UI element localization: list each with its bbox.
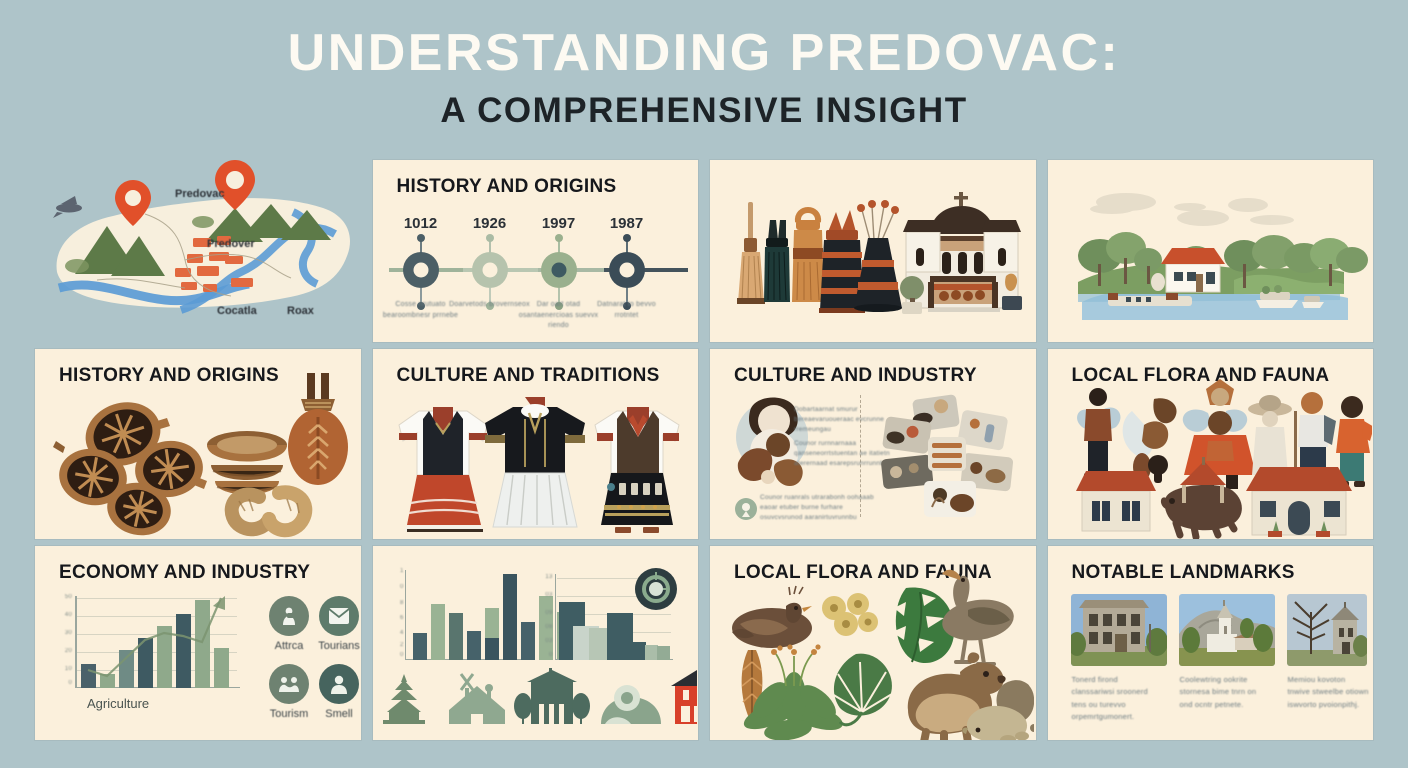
y-axis-tick: 4 bbox=[390, 630, 404, 636]
broom-tan-icon bbox=[737, 202, 765, 304]
page-title: UNDERSTANDING PREDOVAC: bbox=[0, 26, 1408, 81]
y-axis-tick: 0 bbox=[58, 680, 72, 686]
tower-with-tree-photo[interactable] bbox=[1287, 594, 1367, 666]
pagoda-icon bbox=[383, 674, 425, 724]
economy-bar-chart: 50 40 30 20 10 0 bbox=[75, 596, 240, 688]
chart-bar bbox=[449, 613, 463, 660]
y-axis-tick: 30 bbox=[58, 630, 72, 636]
panel-culture-traditions: CULTURE AND TRADITIONS bbox=[373, 349, 699, 539]
chart-x-label: Agriculture bbox=[87, 696, 149, 711]
landmark-icons-row bbox=[373, 664, 697, 734]
y-axis-tick: 03 bbox=[539, 638, 553, 644]
clouds bbox=[1090, 193, 1294, 226]
folk-costume-black-skirt bbox=[595, 407, 679, 533]
y-axis-tick: 0 bbox=[390, 652, 404, 658]
infographic-root: UNDERSTANDING PREDOVAC: A COMPREHENSIVE … bbox=[0, 0, 1408, 768]
stone-manor-photo[interactable] bbox=[1071, 594, 1167, 666]
panel-location-map: Predovac Predover Cocatla Roax bbox=[35, 160, 361, 342]
y-axis-tick: 2 bbox=[390, 642, 404, 648]
y-axis-tick: 50 bbox=[58, 594, 72, 600]
page-header: UNDERSTANDING PREDOVAC: A COMPREHENSIVE … bbox=[0, 26, 1408, 131]
panel-history-crafts: HISTORY AND ORIGINS bbox=[35, 349, 361, 539]
timeline-caption: Datnarat to bevvo rrotntet bbox=[585, 300, 669, 321]
red-roof-villa bbox=[1246, 467, 1352, 537]
badge-label: Smell bbox=[304, 708, 361, 720]
panel-notable-landmarks: NOTABLE LANDMARKS bbox=[1048, 546, 1374, 740]
figures-illustration bbox=[1048, 349, 1372, 539]
folk-costumes-illustration bbox=[373, 349, 697, 539]
chart-bar bbox=[467, 631, 481, 660]
photo-caption: Memiou kovoton tnwive stweelbe otiown is… bbox=[1288, 674, 1370, 711]
y-axis-tick: 03 bbox=[539, 592, 553, 598]
map-label: Cocatla bbox=[217, 305, 257, 317]
y-axis-tick: 10 bbox=[58, 666, 72, 672]
basket-illustration bbox=[35, 349, 359, 539]
photo-caption: Tonerd firond clanssariwsi sroonerd tens… bbox=[1072, 674, 1154, 724]
chart-trend-line bbox=[75, 596, 240, 688]
timeline-node[interactable] bbox=[403, 252, 439, 288]
y-axis-tick: 13 bbox=[539, 574, 553, 580]
page-subtitle: A COMPREHENSIVE INSIGHT bbox=[0, 91, 1408, 131]
body-paragraph: Counor rurnnarnaaa qanseneorrtstuentan a… bbox=[794, 439, 890, 469]
panel-flora-fauna-figures: LOCAL FLORA AND FAUNA bbox=[1048, 349, 1374, 539]
badge-handshake-icon[interactable] bbox=[269, 664, 309, 704]
chart-bar bbox=[607, 613, 633, 660]
y-axis-tick: 1 bbox=[390, 568, 404, 574]
timeline-year: 1926 bbox=[455, 215, 525, 232]
body-paragraph: Dobartaarnat smurur bereaevaruoueraac ev… bbox=[794, 405, 890, 435]
stacked-bowls-icon bbox=[207, 431, 287, 495]
y-axis-tick: 6 bbox=[390, 615, 404, 621]
civic-building-icon bbox=[514, 668, 590, 724]
timeline-year: 1987 bbox=[592, 215, 662, 232]
chart-bar bbox=[657, 646, 670, 660]
panel-traditional-crafts bbox=[710, 160, 1036, 342]
red-roof-house bbox=[1076, 471, 1156, 531]
broom-dark-teal-icon bbox=[764, 220, 790, 302]
chart-bar bbox=[503, 574, 517, 660]
timeline-node[interactable] bbox=[609, 252, 645, 288]
braided-bread-icon bbox=[232, 492, 306, 530]
photo-caption: Coolewtring ookrite stornesa bime tnrn o… bbox=[1180, 674, 1262, 711]
y-axis-tick: 40 bbox=[58, 612, 72, 618]
brown-duck bbox=[732, 586, 812, 648]
folk-costume-white-skirt bbox=[485, 397, 585, 527]
monument-arch-icon bbox=[601, 685, 661, 724]
body-paragraph: Counor ruanrals utrarabonh oohaaab eaoar… bbox=[760, 493, 878, 523]
y-axis-tick: 0 bbox=[539, 652, 553, 658]
folk-costume-red-skirt bbox=[399, 407, 487, 532]
map-label: Roax bbox=[287, 305, 314, 317]
location-pin-icon bbox=[742, 503, 750, 511]
y-axis-tick: 08 bbox=[539, 624, 553, 630]
broom-orange-icon bbox=[792, 210, 824, 302]
church-with-mountain-photo[interactable] bbox=[1179, 594, 1275, 666]
landscape-illustration bbox=[1048, 160, 1372, 342]
hanging-ornament-icon bbox=[288, 373, 348, 485]
panel-title: HISTORY AND ORIGINS bbox=[397, 176, 617, 198]
panel-title: NOTABLE LANDMARKS bbox=[1072, 562, 1295, 584]
badge-envelope-icon[interactable] bbox=[319, 596, 359, 636]
secondary-bar-chart-right: 13 03 09 08 03 0 bbox=[555, 574, 673, 660]
flora-fauna-illustration bbox=[710, 546, 1034, 740]
panel-economy-industry: ECONOMY AND INDUSTRY 50 40 30 20 10 0 bbox=[35, 546, 361, 740]
panel-culture-industry: CULTURE AND INDUSTRY Dobartaarnat smurur… bbox=[710, 349, 1036, 539]
timeline-year: 1012 bbox=[386, 215, 456, 232]
crafts-illustration bbox=[710, 160, 1034, 342]
fan-palm-leaf bbox=[832, 654, 892, 725]
badge-label: Tourians bbox=[304, 640, 361, 652]
map-illustration: Predovac Predover Cocatla Roax bbox=[35, 160, 361, 342]
panel-title: ECONOMY AND INDUSTRY bbox=[59, 562, 310, 584]
yellow-flower-cluster bbox=[822, 593, 878, 636]
timeline-year: 1997 bbox=[524, 215, 594, 232]
orthodox-church-icon bbox=[900, 192, 1022, 314]
panel-history-timeline: HISTORY AND ORIGINS 1012 Cosse nrutuato … bbox=[373, 160, 699, 342]
chart-bar bbox=[521, 622, 535, 660]
winged-figure-1 bbox=[1077, 388, 1120, 479]
map-label: Predovac bbox=[175, 188, 225, 200]
chart-bar bbox=[431, 604, 445, 660]
badge-person-carrying-icon[interactable] bbox=[269, 596, 309, 636]
donut-gauge-icon bbox=[633, 566, 679, 612]
chart-bar bbox=[485, 638, 499, 660]
winged-figure-2 bbox=[1122, 398, 1176, 483]
badge-person-silhouette-icon[interactable] bbox=[319, 664, 359, 704]
secondary-bar-chart-left: 1 0 8 6 4 2 0 bbox=[405, 570, 531, 660]
timeline-node[interactable] bbox=[541, 252, 577, 288]
map-label: Predover bbox=[207, 238, 255, 250]
panel-riverside-landscape bbox=[1048, 160, 1374, 342]
panel-flora-fauna-species: LOCAL FLORA AND FAUNA bbox=[710, 546, 1036, 740]
long-beak-bird bbox=[940, 570, 1017, 664]
photo-collage bbox=[878, 391, 1028, 531]
y-axis-tick: 09 bbox=[539, 610, 553, 616]
chart-bar bbox=[413, 633, 427, 660]
red-town-hall-icon bbox=[671, 670, 697, 724]
y-axis-tick: 8 bbox=[390, 600, 404, 606]
panel-grid: Predovac Predover Cocatla Roax HISTORY A… bbox=[35, 160, 1373, 740]
panel-charts-and-landmark-icons: 1 0 8 6 4 2 0 bbox=[373, 546, 699, 740]
timeline-node[interactable] bbox=[472, 252, 508, 288]
y-axis-tick: 0 bbox=[390, 584, 404, 590]
y-axis-tick: 20 bbox=[58, 648, 72, 654]
airplane-icon bbox=[53, 196, 82, 218]
windmill-farm-icon bbox=[449, 674, 505, 724]
